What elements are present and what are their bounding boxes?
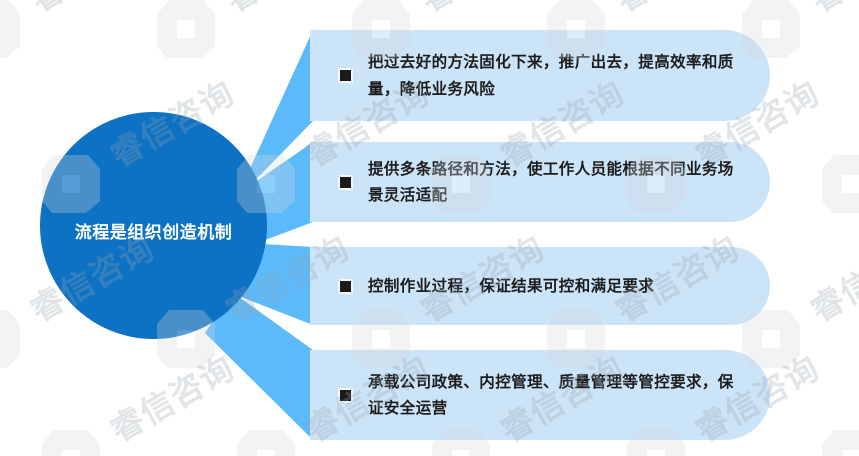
item-box-1[interactable]: 把过去好的方法固化下来，推广出去，提高效率和质量，降低业务风险 (310, 30, 770, 121)
item-box-4[interactable]: 承载公司政策、内控管理、质量管理等管控要求，保证安全运营 (310, 350, 770, 440)
bullet-square-icon (338, 279, 353, 294)
item-text-3: 控制作业过程，保证结果可控和满足要求 (368, 273, 654, 299)
bullet-square-icon (338, 175, 353, 190)
center-circle[interactable]: 流程是组织创造机制 (40, 112, 267, 339)
bullet-square-icon (338, 388, 353, 403)
item-box-3[interactable]: 控制作业过程，保证结果可控和满足要求 (310, 247, 770, 325)
item-text-1: 把过去好的方法固化下来，推广出去，提高效率和质量，降低业务风险 (368, 49, 736, 101)
center-circle-label: 流程是组织创造机制 (69, 220, 239, 246)
diagram-canvas: 把过去好的方法固化下来，推广出去，提高效率和质量，降低业务风险 提供多条路径和方… (0, 0, 859, 456)
item-text-4: 承载公司政策、内控管理、质量管理等管控要求，保证安全运营 (368, 369, 736, 421)
bullet-square-icon (338, 68, 353, 83)
item-text-2: 提供多条路径和方法，使工作人员能根据不同业务场景灵活适配 (368, 156, 736, 208)
item-box-2[interactable]: 提供多条路径和方法，使工作人员能根据不同业务场景灵活适配 (310, 142, 770, 222)
